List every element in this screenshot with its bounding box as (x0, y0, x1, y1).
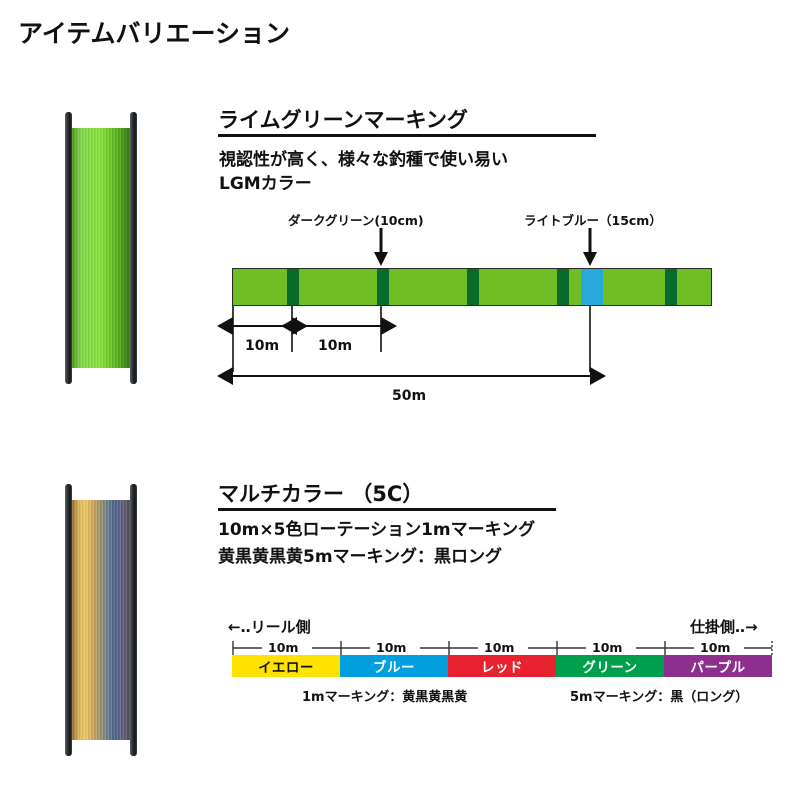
mc-caption-1m-marking: 1mマーキング：黄黒黄黒黄 (302, 686, 467, 705)
lgm-marker-light-blue (581, 269, 603, 305)
spool-flange-right (130, 112, 137, 384)
mc-segment-blue: ブルー (340, 655, 448, 677)
spool-flange-left (65, 112, 72, 384)
lgm-line-bar (232, 268, 712, 306)
mc-dimension-label-1: 10m (268, 640, 298, 655)
lgm-dimension-label-50m: 50m (392, 388, 426, 404)
mc-caption-5m-marking: 5mマーキング：黒（ロング） (570, 686, 748, 705)
lgm-marker-dark-green-1 (287, 269, 299, 305)
mc-segment-yellow: イエロー (232, 655, 340, 677)
callout-arrow-dark-green (374, 228, 388, 266)
callout-arrow-light-blue (583, 228, 597, 266)
section-description-lime-green-line2: LGMカラー (219, 172, 312, 196)
section-heading-multi-color: マルチカラー （5C） (218, 478, 423, 511)
section-heading-underline (218, 508, 556, 511)
multi-color-spool-image (62, 484, 140, 756)
lgm-marker-dark-green-5 (665, 269, 677, 305)
spool-sheen (69, 500, 133, 740)
callout-dark-green-label: ダークグリーン(10cm) (288, 210, 424, 229)
reel-side-label: ←‥リール側 (228, 616, 311, 637)
section-heading-underline (218, 134, 596, 137)
spool-flange-left (65, 484, 72, 756)
section-description-lime-green-line1: 視認性が高く、様々な釣種で使い易い (219, 148, 508, 172)
mc-segment-red: レッド (448, 655, 556, 677)
mc-dimension-label-2: 10m (376, 640, 406, 655)
lgm-marker-dark-green-4 (557, 269, 569, 305)
page-title: アイテムバリエーション (18, 14, 290, 50)
section-heading-lime-green: ライムグリーンマーキング (218, 104, 468, 137)
lgm-marker-dark-green-3 (467, 269, 479, 305)
spool-sheen (69, 128, 133, 368)
lgm-extension-lines (233, 306, 590, 372)
mc-segment-purple: パープル (664, 655, 772, 677)
lime-green-spool-image (62, 112, 140, 384)
rig-side-label: 仕掛側‥→ (690, 616, 758, 637)
mc-dimension-label-5: 10m (700, 640, 730, 655)
section-description-multi-color-line2: 黄黒黄黒黄5mマーキング：黒ロング (218, 545, 502, 569)
mc-dimension-label-4: 10m (592, 640, 622, 655)
section-description-multi-color-line1: 10m×5色ローテーション1mマーキング (218, 518, 535, 542)
multi-color-bar: イエロー ブルー レッド グリーン パープル (232, 655, 772, 677)
lgm-dimension-label-10m-2: 10m (318, 338, 352, 354)
lgm-marker-dark-green-2 (377, 269, 389, 305)
mc-segment-green: グリーン (556, 655, 664, 677)
lgm-dimension-label-10m-1: 10m (245, 338, 279, 354)
mc-dimension-label-3: 10m (484, 640, 514, 655)
callout-light-blue-label: ライトブルー（15cm） (524, 210, 662, 229)
spool-flange-right (130, 484, 137, 756)
